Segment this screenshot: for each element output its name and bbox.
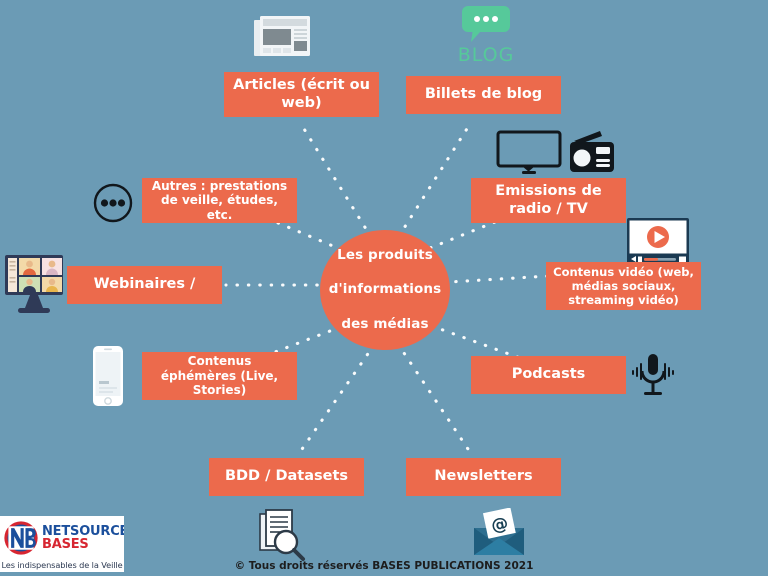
node-webinaires[interactable]: Webinaires / [67, 266, 222, 304]
blog-word-label: BLOG [458, 46, 515, 65]
node-podcasts[interactable]: Podcasts [471, 356, 626, 394]
tv-radio-icon [496, 130, 616, 174]
node-video-label: Contenus vidéo (web, médias sociaux, str… [552, 265, 695, 307]
logo-netsources: NETSOURCES [42, 525, 124, 538]
node-autres-label: Autres : prestations de veille, études, … [148, 179, 291, 223]
node-bdd[interactable]: BDD / Datasets [209, 458, 364, 496]
node-webinaires-label: Webinaires / [94, 276, 196, 294]
logo-tagline: Les indispensables de la Veille [0, 560, 124, 572]
slide-canvas: Les produits d'informations des médias [0, 0, 768, 576]
node-bdd-label: BDD / Datasets [225, 468, 348, 486]
node-autres[interactable]: Autres : prestations de veille, études, … [142, 178, 297, 223]
center-hub: Les produits d'informations des médias [320, 230, 450, 350]
hub-line-3: des médias [323, 316, 447, 333]
newspaper-icon [252, 10, 318, 62]
node-ephemere-label: Contenus éphémères (Live, Stories) [148, 354, 291, 398]
video-player-icon [627, 218, 689, 265]
hub-line-2: d'informations [323, 281, 447, 298]
three-dots-circle-icon [92, 182, 134, 224]
tv-icon [498, 132, 560, 174]
hub-line-1: Les produits [323, 247, 447, 264]
radio-icon [570, 131, 614, 172]
email-envelope-icon: @ [470, 508, 528, 558]
brand-logo: NETSOURCES BASES Les indispensables de l… [0, 516, 124, 572]
node-ephemere[interactable]: Contenus éphémères (Live, Stories) [142, 352, 297, 400]
nb-monogram-icon [3, 520, 39, 556]
node-blog-label: Billets de blog [425, 86, 542, 104]
logo-bases: BASES [42, 538, 124, 551]
microphone-icon [628, 350, 678, 400]
node-podcasts-label: Podcasts [512, 366, 586, 384]
logo-top-row: NETSOURCES BASES [0, 516, 124, 560]
node-articles-label: Articles (écrit ou web) [230, 77, 373, 112]
node-articles[interactable]: Articles (écrit ou web) [224, 72, 379, 117]
node-newsletters-label: Newsletters [434, 468, 532, 486]
node-video[interactable]: Contenus vidéo (web, médias sociaux, str… [546, 262, 701, 310]
logo-wordmark: NETSOURCES BASES [42, 525, 124, 552]
speech-bubble-icon: BLOG [455, 4, 517, 72]
document-search-icon [258, 508, 312, 562]
node-newsletters[interactable]: Newsletters [406, 458, 561, 496]
smartphone-icon [92, 345, 124, 407]
node-radio-tv[interactable]: Emissions de radio / TV [471, 178, 626, 223]
node-blog[interactable]: Billets de blog [406, 76, 561, 114]
video-conference-icon [4, 253, 64, 315]
node-radio-tv-label: Emissions de radio / TV [477, 183, 620, 218]
